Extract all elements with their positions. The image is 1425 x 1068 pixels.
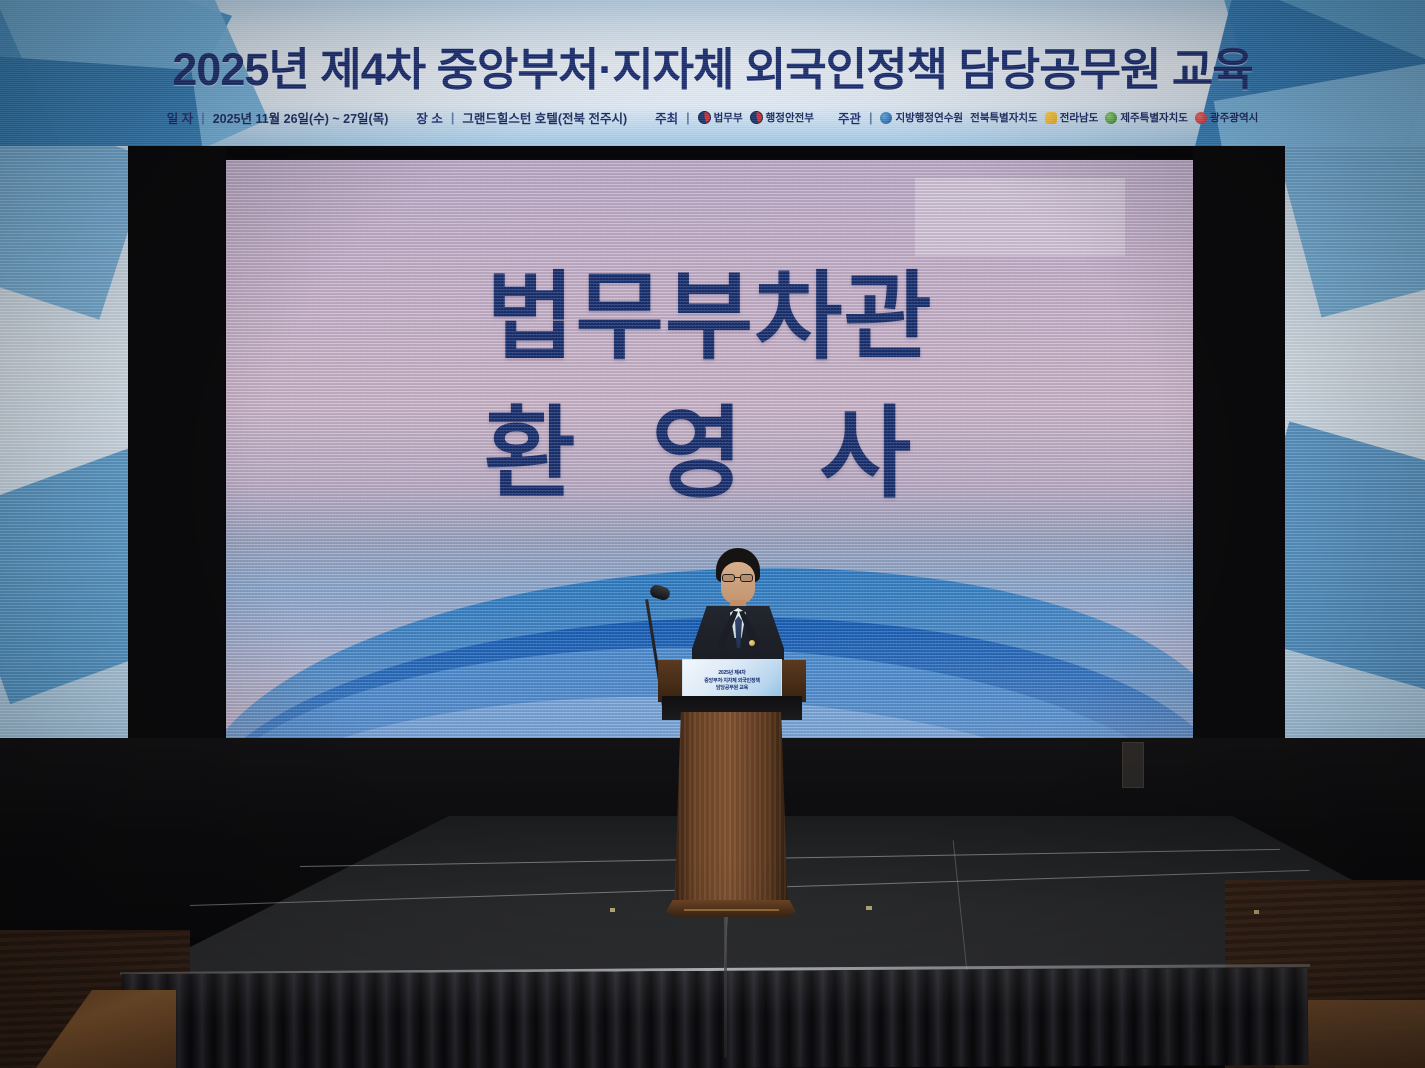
- eyeglasses-icon: [740, 574, 753, 582]
- venue-value: 그랜드힐스턴 호텔(전북 전주시): [462, 108, 627, 127]
- floor-speck: [610, 908, 615, 912]
- wall-gap-right: [1193, 146, 1285, 750]
- floor-speck: [866, 906, 872, 910]
- taegeuk-logo-icon: [698, 111, 711, 124]
- floor-mic-stand: [724, 908, 727, 1058]
- taegeuk-logo-icon: [750, 111, 763, 124]
- wall-gap-left: [128, 146, 226, 750]
- banner-subtitle-row: 일 자 | 2025년 11월 26일(수) ~ 27일(목) 장 소 | 그랜…: [0, 108, 1425, 127]
- screen-headline-line1: 법무부차관: [226, 268, 1193, 368]
- host-name: 행정안전부: [766, 110, 814, 125]
- blue-emblem-icon: [880, 112, 892, 124]
- eyeglasses-icon: [722, 574, 735, 582]
- gold-emblem-icon: [1045, 112, 1057, 124]
- podium-wooden-body: [674, 712, 788, 914]
- side-polygon-decor: [0, 146, 128, 320]
- wood-grain-overlay: [674, 712, 788, 914]
- organizer-loginst: 지방행정연수원: [880, 110, 963, 125]
- green-emblem-icon: [1105, 112, 1117, 124]
- host-mois: 행정안전부: [750, 110, 814, 125]
- organizer-name: 지방행정연수원: [895, 110, 963, 125]
- wall-outlet-plate: [1122, 742, 1144, 788]
- host-moj: 법무부: [698, 110, 743, 125]
- red-emblem-icon: [1195, 112, 1207, 124]
- podium-base-trim: [684, 909, 779, 911]
- venue-label: 장 소: [416, 108, 442, 127]
- screen-headline-line2: 환 영 사: [226, 402, 1193, 506]
- organizer-gwangju: 광주광역시: [1195, 110, 1258, 125]
- side-polygon-decor: [0, 448, 128, 704]
- event-banner: 2025년 제4차 중앙부처·지자체 외국인정책 담당공무원 교육 일 자 | …: [0, 0, 1425, 146]
- podium-sign-line-3: 담당공무원 교육: [716, 685, 748, 692]
- host-name: 법무부: [714, 110, 743, 125]
- speaker-face: [721, 562, 755, 604]
- divider-icon: |: [685, 111, 691, 125]
- organizer-jeonnam: 전라남도: [1045, 110, 1099, 125]
- skirt-sheen-overlay: [122, 968, 1308, 1068]
- organizer-name: 전라남도: [1060, 110, 1099, 125]
- divider-icon: |: [450, 111, 456, 125]
- side-polygon-decor: [1285, 421, 1425, 690]
- organizer-label: 주관: [838, 108, 861, 127]
- side-banner-panel-left: [0, 146, 128, 746]
- banner-title: 2025년 제4차 중앙부처·지자체 외국인정책 담당공무원 교육: [0, 33, 1425, 98]
- organizer-name: 전북특별자치도: [970, 110, 1038, 125]
- host-label: 주최: [655, 108, 678, 127]
- divider-icon: |: [200, 111, 206, 125]
- date-label: 일 자: [167, 108, 193, 127]
- organizer-name: 광주광역시: [1210, 110, 1258, 125]
- conference-stage-photo: 2025년 제4차 중앙부처·지자체 외국인정책 담당공무원 교육 일 자 | …: [0, 0, 1425, 1068]
- date-value: 2025년 11월 26일(수) ~ 27일(목): [213, 108, 389, 127]
- stage-skirt-drape: [122, 968, 1308, 1068]
- organizer-jeonbuk: 전북특별자치도: [970, 110, 1038, 125]
- organizer-jeju: 제주특별자치도: [1105, 110, 1188, 125]
- floor-speck: [1254, 910, 1259, 914]
- side-banner-panel-right: [1285, 146, 1425, 746]
- podium-sign-line-1: 2025년 제4차: [718, 670, 745, 677]
- side-polygon-decor: [1285, 146, 1425, 318]
- screen-headline-block: 법무부차관 환 영 사: [226, 268, 1193, 506]
- divider-icon: |: [868, 111, 874, 125]
- organizer-name: 제주특별자치도: [1120, 110, 1188, 125]
- podium-sign-line-2: 중앙부처·지자체 외국인정책: [704, 678, 759, 685]
- screen-brightness-patch: [915, 178, 1125, 256]
- lapel-pin-icon: [749, 640, 755, 646]
- eyeglasses-bridge: [735, 577, 740, 578]
